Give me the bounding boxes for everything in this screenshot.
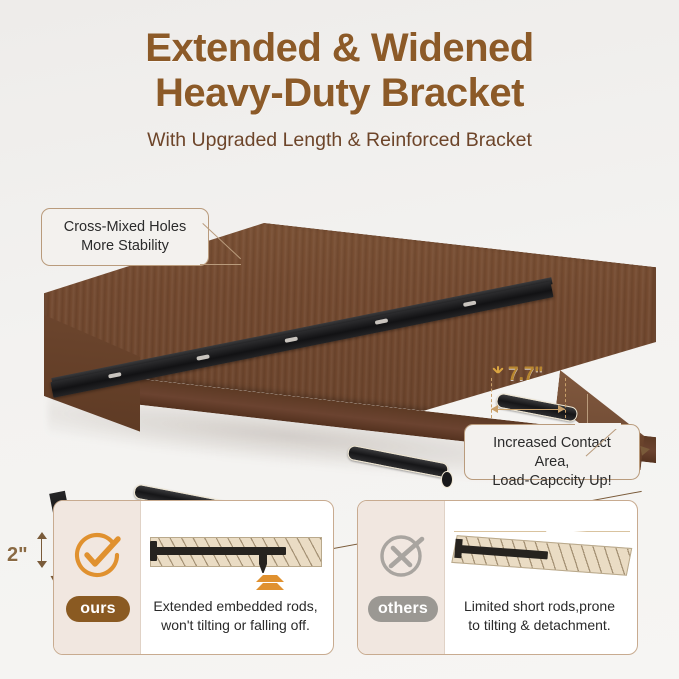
callout-left-line2: More Stability	[54, 237, 196, 256]
ours-up-arrow-icon	[256, 575, 270, 591]
page-subtitle: With Upgraded Length & Reinforced Bracke…	[0, 128, 679, 152]
others-text-line2: to tilting & detachment.	[450, 616, 629, 635]
others-description: Limited short rods,prone to tilting & de…	[450, 597, 629, 635]
others-diagram	[450, 523, 632, 591]
others-rod-head	[454, 539, 462, 558]
comparison-section: ours Extended embedded rods, won't tilti…	[0, 500, 679, 670]
panel-divider	[444, 501, 445, 654]
ours-text-line1: Extended embedded rods,	[146, 597, 325, 616]
others-wall-line	[454, 531, 630, 532]
header-block: Extended & Widened Heavy-Duty Bracket Wi…	[0, 26, 679, 152]
x-circle-icon	[375, 528, 429, 582]
comparison-panel-others: others Limited short rods,prone to tilti…	[357, 500, 638, 655]
ours-description: Extended embedded rods, won't tilting or…	[146, 597, 325, 635]
panel-divider	[140, 501, 141, 654]
ours-text-line2: won't tilting or falling off.	[146, 616, 325, 635]
others-text-line1: Limited short rods,prone	[450, 597, 629, 616]
callout-increased-contact-area: Increased Contact Area, Load-Capccity Up…	[464, 424, 640, 480]
check-circle-icon	[71, 528, 125, 582]
ours-diagram	[146, 523, 328, 591]
others-badge: others	[368, 596, 438, 622]
callout-right-line2: Load-Capccity Up!	[477, 472, 627, 491]
page-title-line2: Heavy-Duty Bracket	[0, 71, 679, 116]
rod-length-label: 7.7"	[508, 364, 543, 386]
callout-left-tail	[203, 223, 247, 265]
page-title-line1: Extended & Widened	[0, 26, 679, 71]
callout-left-line1: Cross-Mixed Holes	[54, 218, 196, 237]
ours-rod-head	[150, 541, 157, 561]
comparison-panel-ours: ours Extended embedded rods, won't tilti…	[53, 500, 334, 655]
callout-cross-mixed-holes: Cross-Mixed Holes More Stability	[41, 208, 209, 266]
length-dimension-arrow	[640, 444, 651, 455]
ours-badge: ours	[66, 596, 130, 622]
sparkle-icon	[490, 366, 506, 382]
ours-screw-icon	[259, 553, 267, 573]
callout-right-tail	[575, 395, 621, 427]
infographic-canvas: Extended & Widened Heavy-Duty Bracket Wi…	[0, 0, 679, 679]
support-rod-cap	[441, 471, 453, 488]
